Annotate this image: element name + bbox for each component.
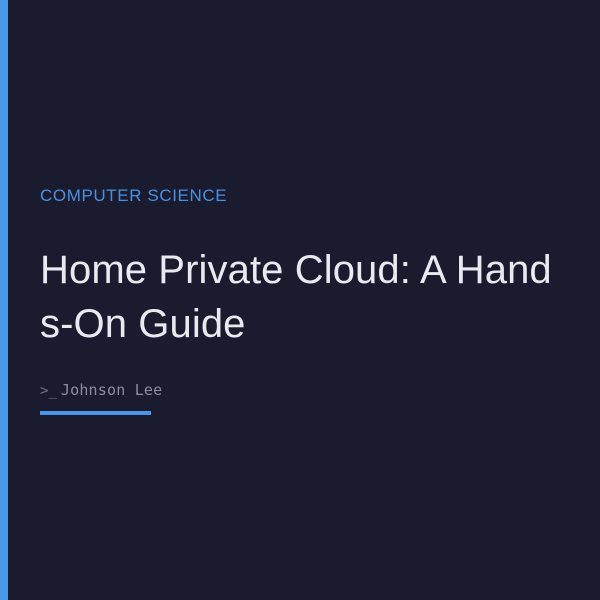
article-cover-card: COMPUTER SCIENCE Home Private Cloud: A H… bbox=[0, 0, 600, 600]
category-label: COMPUTER SCIENCE bbox=[40, 186, 227, 206]
card-content: COMPUTER SCIENCE Home Private Cloud: A H… bbox=[40, 0, 560, 600]
page-title: Home Private Cloud: A Hands-On Guide bbox=[40, 243, 560, 351]
author-name: Johnson Lee bbox=[61, 381, 163, 399]
author-byline: >_ Johnson Lee bbox=[40, 381, 162, 400]
left-accent-stripe bbox=[0, 0, 8, 600]
accent-underline-bar bbox=[40, 411, 151, 415]
terminal-prompt-icon: >_ bbox=[40, 382, 57, 400]
